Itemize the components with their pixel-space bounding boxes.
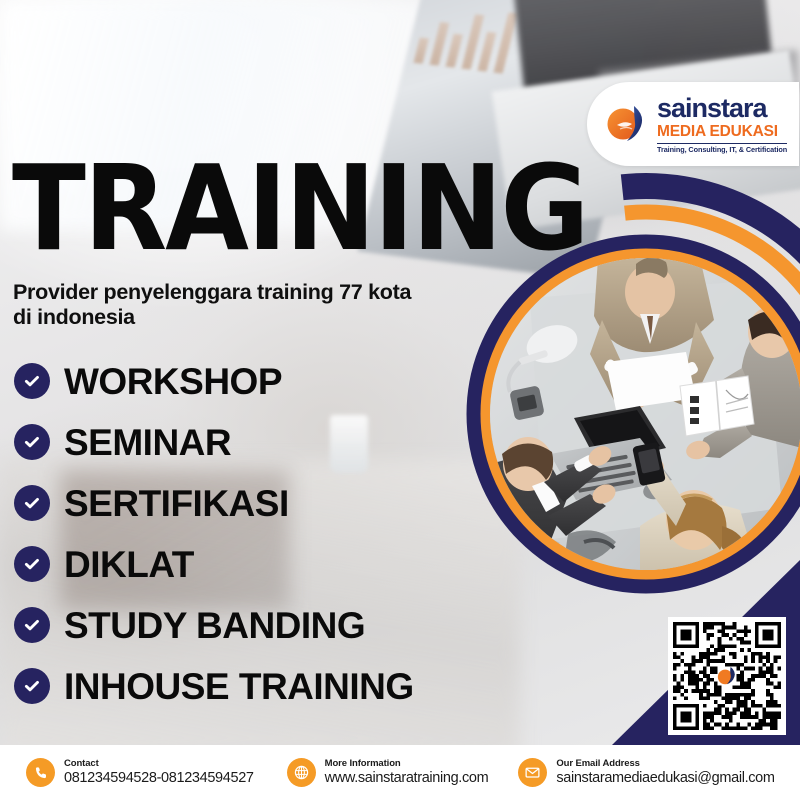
list-item: SERTIFIKASI (14, 477, 414, 529)
check-circle-icon (14, 363, 50, 399)
contact-value: sainstaramediaedukasi@gmail.com (556, 770, 774, 786)
page-title: TRAINING (12, 160, 587, 257)
qr-code[interactable] (668, 617, 786, 735)
contact-bar: Contact 081234594528-081234594527 More I… (0, 745, 800, 800)
contact-email[interactable]: Our Email Address sainstaramediaedukasi@… (518, 758, 774, 787)
check-circle-icon (14, 546, 50, 582)
list-item: INHOUSE TRAINING (14, 660, 414, 712)
service-label: DIKLAT (64, 546, 194, 583)
qr-center-logo (716, 665, 738, 687)
check-circle-icon (14, 668, 50, 704)
logo-name: sainstara (657, 95, 787, 122)
contact-website[interactable]: More Information www.sainstaratraining.c… (287, 758, 489, 787)
envelope-icon (518, 758, 547, 787)
meeting-photo-circle (490, 258, 800, 570)
check-circle-icon (14, 485, 50, 521)
brand-logo: sainstara MEDIA EDUKASI Training, Consul… (587, 82, 799, 166)
contact-value: www.sainstaratraining.com (325, 770, 489, 786)
logo-tagline: Training, Consulting, IT, & Certificatio… (657, 143, 787, 153)
contact-label: Our Email Address (556, 759, 774, 770)
service-label: SERTIFIKASI (64, 485, 289, 522)
check-circle-icon (14, 607, 50, 643)
phone-icon (26, 758, 55, 787)
check-circle-icon (14, 424, 50, 460)
list-item: STUDY BANDING (14, 599, 414, 651)
list-item: WORKSHOP (14, 355, 414, 407)
sainstara-flame-icon (603, 101, 649, 147)
page-subtitle: Provider penyelenggara training 77 kota … (13, 280, 433, 330)
service-label: WORKSHOP (64, 363, 282, 400)
logo-subtitle: MEDIA EDUKASI (657, 124, 787, 140)
globe-icon (287, 758, 316, 787)
service-label: STUDY BANDING (64, 607, 365, 644)
service-label: INHOUSE TRAINING (64, 668, 414, 705)
poster-root: sainstara MEDIA EDUKASI Training, Consul… (0, 0, 800, 800)
list-item: SEMINAR (14, 416, 414, 468)
contact-label: More Information (325, 759, 489, 770)
contact-phone[interactable]: Contact 081234594528-081234594527 (26, 758, 254, 787)
service-label: SEMINAR (64, 424, 231, 461)
service-list: WORKSHOP SEMINAR SERTIFIKASI DIKLAT STUD… (14, 355, 414, 712)
meeting-photo (490, 258, 800, 570)
contact-label: Contact (64, 759, 254, 770)
list-item: DIKLAT (14, 538, 414, 590)
contact-value: 081234594528-081234594527 (64, 770, 254, 786)
